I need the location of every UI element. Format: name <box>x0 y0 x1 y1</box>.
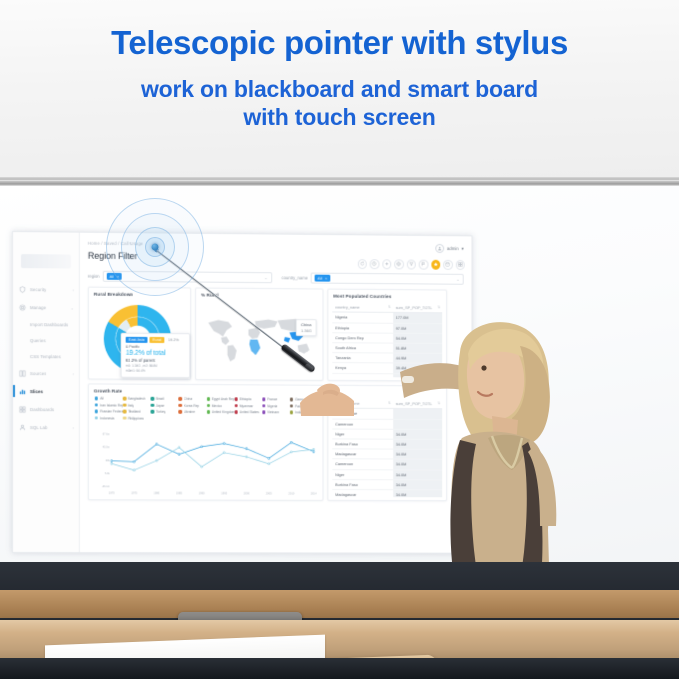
chevron-icon[interactable]: ⌄ <box>71 305 74 310</box>
legend-color-dot <box>234 398 237 401</box>
map-tooltip-value: 1.36G <box>301 328 312 333</box>
chevron-icon[interactable]: › <box>73 425 74 430</box>
legend-color-dot <box>151 404 154 407</box>
svg-text:2010: 2010 <box>288 491 294 495</box>
filter-select[interactable]: All×⌄ <box>311 273 464 285</box>
tooltip-key: East Asia <box>126 337 148 343</box>
legend-color-dot <box>262 398 265 401</box>
legend-label: Ethiopia <box>239 397 251 401</box>
toolbar-settings-icon[interactable] <box>394 259 403 268</box>
cell-country-name: Niger <box>332 470 392 479</box>
svg-text:2005: 2005 <box>266 491 272 495</box>
gear-icon <box>19 304 26 311</box>
svg-text:67.6m: 67.6m <box>103 432 111 436</box>
sidebar-item-label: Import Dashboards <box>30 322 68 327</box>
sidebar-item-manage[interactable]: Manage⌄ <box>13 298 79 316</box>
sort-icon[interactable]: ⇅ <box>388 305 391 309</box>
stylus-touch-point <box>152 244 159 251</box>
dashboard-sidebar[interactable]: Security›Manage⌄Import DashboardsQueries… <box>13 232 80 552</box>
legend-item[interactable]: Brazil <box>151 397 179 401</box>
legend-item[interactable]: Turkey <box>151 410 179 414</box>
chevron-icon[interactable]: › <box>73 287 74 292</box>
cell-country-name: Cameroon <box>332 460 392 469</box>
toolbar-star-icon[interactable] <box>431 260 440 269</box>
database-icon <box>19 370 26 377</box>
sort-icon[interactable]: ⇅ <box>388 401 391 405</box>
sidebar-item-label: Sources <box>30 371 46 376</box>
legend-label: China <box>184 397 193 401</box>
chevron-down-icon[interactable]: ⌄ <box>264 275 268 281</box>
legend-item[interactable]: Myanmar <box>234 404 262 408</box>
legend-label: Russian Federation <box>100 410 123 414</box>
legend-item[interactable]: Mexico <box>206 404 234 408</box>
legend-color-dot <box>95 403 98 406</box>
marketing-banner: Telescopic pointer with stylus work on b… <box>0 0 679 181</box>
filter-label: country_name <box>282 275 308 280</box>
tooltip-detail-1: m1: 1.34G , m2: 864M <box>126 364 186 368</box>
close-icon[interactable]: × <box>325 276 327 281</box>
legend-color-dot <box>123 410 126 413</box>
legend-item[interactable]: Iran Islamic Rep <box>95 403 123 407</box>
legend-item[interactable]: Bangladesh <box>123 397 151 401</box>
card-rural-breakdown[interactable]: Rural Breakdown East Asia Rural 19.2% & … <box>88 287 191 380</box>
column-header[interactable]: country_name⇅ <box>332 303 392 313</box>
legend-color-dot <box>151 410 154 413</box>
cell-country-name: Madagascar <box>332 449 392 458</box>
svg-text:2000: 2000 <box>244 491 250 495</box>
svg-text:-46.1m: -46.1m <box>102 484 111 488</box>
legend-item[interactable]: All <box>95 396 123 400</box>
legend-color-dot <box>206 410 209 413</box>
tooltip-headline: 19.2% of total <box>126 350 186 357</box>
legend-label: Bangladesh <box>128 397 145 401</box>
toolbar-flag-icon[interactable] <box>419 260 428 269</box>
legend-item[interactable]: Korea Rep <box>179 403 207 407</box>
legend-item[interactable]: Russian Federation <box>95 410 123 414</box>
legend-color-dot <box>206 397 209 400</box>
presenter-hand <box>295 370 355 416</box>
whiteboard-lip <box>0 181 679 186</box>
tooltip-value: Rural <box>149 337 164 343</box>
shield-icon <box>19 286 26 293</box>
donut-tooltip: East Asia Rural 19.2% & Pacific 19.2% of… <box>121 333 190 379</box>
chevron-down-icon[interactable]: ▾ <box>462 246 464 252</box>
user-menu[interactable]: admin ▾ <box>435 244 464 253</box>
legend-item[interactable]: Egypt Arab Rep <box>206 397 234 401</box>
chevron-icon[interactable]: › <box>73 371 74 376</box>
cell-country-name: Burkina Faso <box>332 439 392 448</box>
toolbar-grid-icon[interactable] <box>455 260 464 269</box>
legend-color-dot <box>179 404 182 407</box>
cell-country-name: Ethiopia <box>332 323 392 333</box>
legend-color-dot <box>95 416 98 419</box>
legend-item[interactable]: Japan <box>151 403 179 407</box>
svg-text:5.0k: 5.0k <box>105 471 110 475</box>
legend-color-dot <box>179 397 182 400</box>
legend-label: Brazil <box>156 397 164 401</box>
legend-color-dot <box>95 397 98 400</box>
tooltip-detail-2: m2m1: 64.4% <box>126 369 186 373</box>
card-title-most-populated: Most Populated Countries <box>328 290 446 300</box>
svg-text:1985: 1985 <box>176 491 182 495</box>
legend-label: United States <box>239 410 259 414</box>
sidebar-item-label: Security <box>30 287 46 292</box>
cell-country-name: South Africa <box>332 343 392 353</box>
svg-text:2014: 2014 <box>311 491 317 495</box>
legend-color-dot <box>262 411 265 414</box>
legend-item[interactable]: United States <box>234 410 262 414</box>
svg-text:1990: 1990 <box>199 491 205 495</box>
legend-item[interactable]: Vietnam <box>262 410 290 414</box>
svg-text:1980: 1980 <box>154 491 160 495</box>
card-growth-rate[interactable]: Growth Rate AllBangladeshBrazilChinaEgyp… <box>88 383 324 500</box>
sidebar-item-queries[interactable]: Queries <box>13 332 79 348</box>
legend-label: Iran Islamic Rep <box>100 403 123 407</box>
banner-title: Telescopic pointer with stylus <box>111 26 568 61</box>
legend-label: All <box>100 396 104 400</box>
svg-text:45.0m: 45.0m <box>103 445 111 449</box>
sidebar-item-slices[interactable]: Slices <box>13 382 79 400</box>
banner-subtitle-line2: with touch screen <box>141 103 538 132</box>
legend-color-dot <box>290 411 293 414</box>
banner-subtitle: work on blackboard and smart board with … <box>141 75 538 133</box>
legend-label: France <box>267 397 277 401</box>
dashboard-toolbar[interactable] <box>357 259 464 269</box>
sidebar-item-security[interactable]: Security› <box>13 280 79 299</box>
filter-value-pill[interactable]: All× <box>315 274 331 282</box>
legend-label: Korea Rep <box>184 403 200 407</box>
svg-text:1975: 1975 <box>131 491 137 495</box>
map-tooltip-country: China <box>301 322 312 327</box>
legend-color-dot <box>290 404 293 407</box>
sidebar-item-import-dashboards[interactable]: Import Dashboards <box>13 316 79 332</box>
legend-label: Italy <box>128 403 134 407</box>
desk-front-panel <box>0 658 679 679</box>
card-title-growth-rate: Growth Rate <box>89 384 323 394</box>
cell-country-name: Congo Dem Rep <box>332 333 392 343</box>
tooltip-pct: 19.2% <box>168 338 179 342</box>
filter-value: All <box>109 274 113 279</box>
cell-country-name: Burkina Faso <box>332 480 392 489</box>
chart-legend[interactable]: AllBangladeshBrazilChinaEgypt Arab RepEt… <box>95 396 318 428</box>
classroom-foreground <box>0 562 679 679</box>
sidebar-item-label: Manage <box>30 305 46 310</box>
legend-color-dot <box>123 417 126 420</box>
filter-value: All <box>318 276 322 281</box>
user-avatar-icon <box>435 244 444 253</box>
filter-country_name[interactable]: country_nameAll×⌄ <box>282 271 464 285</box>
banner-subtitle-line1: work on blackboard and smart board <box>141 75 538 104</box>
toolbar-filter-icon[interactable] <box>406 260 415 269</box>
chevron-down-icon[interactable]: ⌄ <box>456 276 460 282</box>
scene-root: Telescopic pointer with stylus work on b… <box>0 0 679 679</box>
column-header[interactable]: sum_SP_POP_TOTL⇅ <box>393 303 442 313</box>
toolbar-plus-icon[interactable] <box>382 259 391 268</box>
bar-chart-icon <box>19 388 26 395</box>
legend-color-dot <box>290 398 293 401</box>
sidebar-item-dashboards[interactable]: Dashboards <box>13 400 79 418</box>
legend-color-dot <box>234 411 237 414</box>
legend-label: Turkey <box>156 410 166 414</box>
svg-text:20k: 20k <box>105 458 110 462</box>
legend-label: Thailand <box>128 410 141 414</box>
legend-color-dot <box>262 404 265 407</box>
legend-label: Egypt Arab Rep <box>212 397 235 401</box>
legend-item[interactable]: France <box>262 397 290 401</box>
legend-label: United Kingdom <box>212 410 235 414</box>
grid-icon <box>19 406 26 413</box>
legend-color-dot <box>151 397 154 400</box>
growth-rate-line-chart[interactable]: 67.6m45.0m20k5.0k-46.1m19701975198019851… <box>94 430 318 497</box>
legend-color-dot <box>95 410 98 413</box>
filter-label: region <box>88 274 100 279</box>
legend-item[interactable]: Philippines <box>123 416 151 420</box>
sidebar-item-label: Dashboards <box>30 407 54 412</box>
toolbar-save-icon[interactable] <box>443 260 452 269</box>
sidebar-item-label: CSS Templates <box>30 354 61 359</box>
legend-color-dot <box>234 404 237 407</box>
sidebar-item-label: Queries <box>30 338 46 343</box>
svg-text:1995: 1995 <box>221 491 227 495</box>
legend-item[interactable]: Ethiopia <box>234 397 262 401</box>
sidebar-item-css-templates[interactable]: CSS Templates <box>13 348 79 364</box>
legend-item[interactable]: Nigeria <box>262 404 290 408</box>
legend-color-dot <box>123 397 126 400</box>
legend-label: Vietnam <box>267 410 279 414</box>
toolbar-clock-icon[interactable] <box>370 259 379 268</box>
terminal-icon <box>19 424 26 431</box>
sidebar-item-label: SQL Lab <box>30 425 47 430</box>
legend-label: Ukraine <box>184 410 195 414</box>
cell-country-name: Madagascar <box>332 490 392 497</box>
presenter-woman <box>400 320 590 600</box>
legend-label: Philippines <box>128 416 144 420</box>
legend-color-dot <box>123 403 126 406</box>
legend-item[interactable]: Italy <box>123 403 151 407</box>
legend-item[interactable]: Indonesia <box>95 416 123 420</box>
user-name: admin <box>447 246 459 251</box>
legend-label: Indonesia <box>100 416 114 420</box>
legend-label: Myanmar <box>239 404 253 408</box>
legend-item[interactable]: Ukraine <box>179 410 207 414</box>
sidebar-item-sql-lab[interactable]: SQL Lab› <box>13 418 79 436</box>
sort-icon[interactable]: ⇅ <box>437 305 440 309</box>
cell-country-name: Tanzania <box>332 353 392 362</box>
svg-text:1970: 1970 <box>109 491 115 495</box>
toolbar-refresh-icon[interactable] <box>357 259 366 268</box>
app-logo <box>21 254 71 268</box>
cell-country-name: Niger <box>332 429 392 438</box>
legend-label: Mexico <box>212 404 222 408</box>
legend-label: Japan <box>156 403 165 407</box>
legend-item[interactable]: China <box>179 397 207 401</box>
cell-country-name: Cameroon <box>332 419 392 428</box>
map-tooltip: China 1.36G <box>296 319 317 336</box>
tooltip-sub: & Pacific <box>126 344 186 348</box>
cell-country-name: Nigeria <box>332 313 392 323</box>
legend-label: Nigeria <box>267 404 277 408</box>
sidebar-item-sources[interactable]: Sources› <box>13 364 79 382</box>
legend-item[interactable]: United Kingdom <box>206 410 234 414</box>
sidebar-item-label: Slices <box>30 389 43 394</box>
legend-item[interactable]: Thailand <box>123 410 151 414</box>
legend-color-dot <box>206 404 209 407</box>
tooltip-parent: 61.2% of parent <box>126 358 186 363</box>
legend-color-dot <box>179 410 182 413</box>
